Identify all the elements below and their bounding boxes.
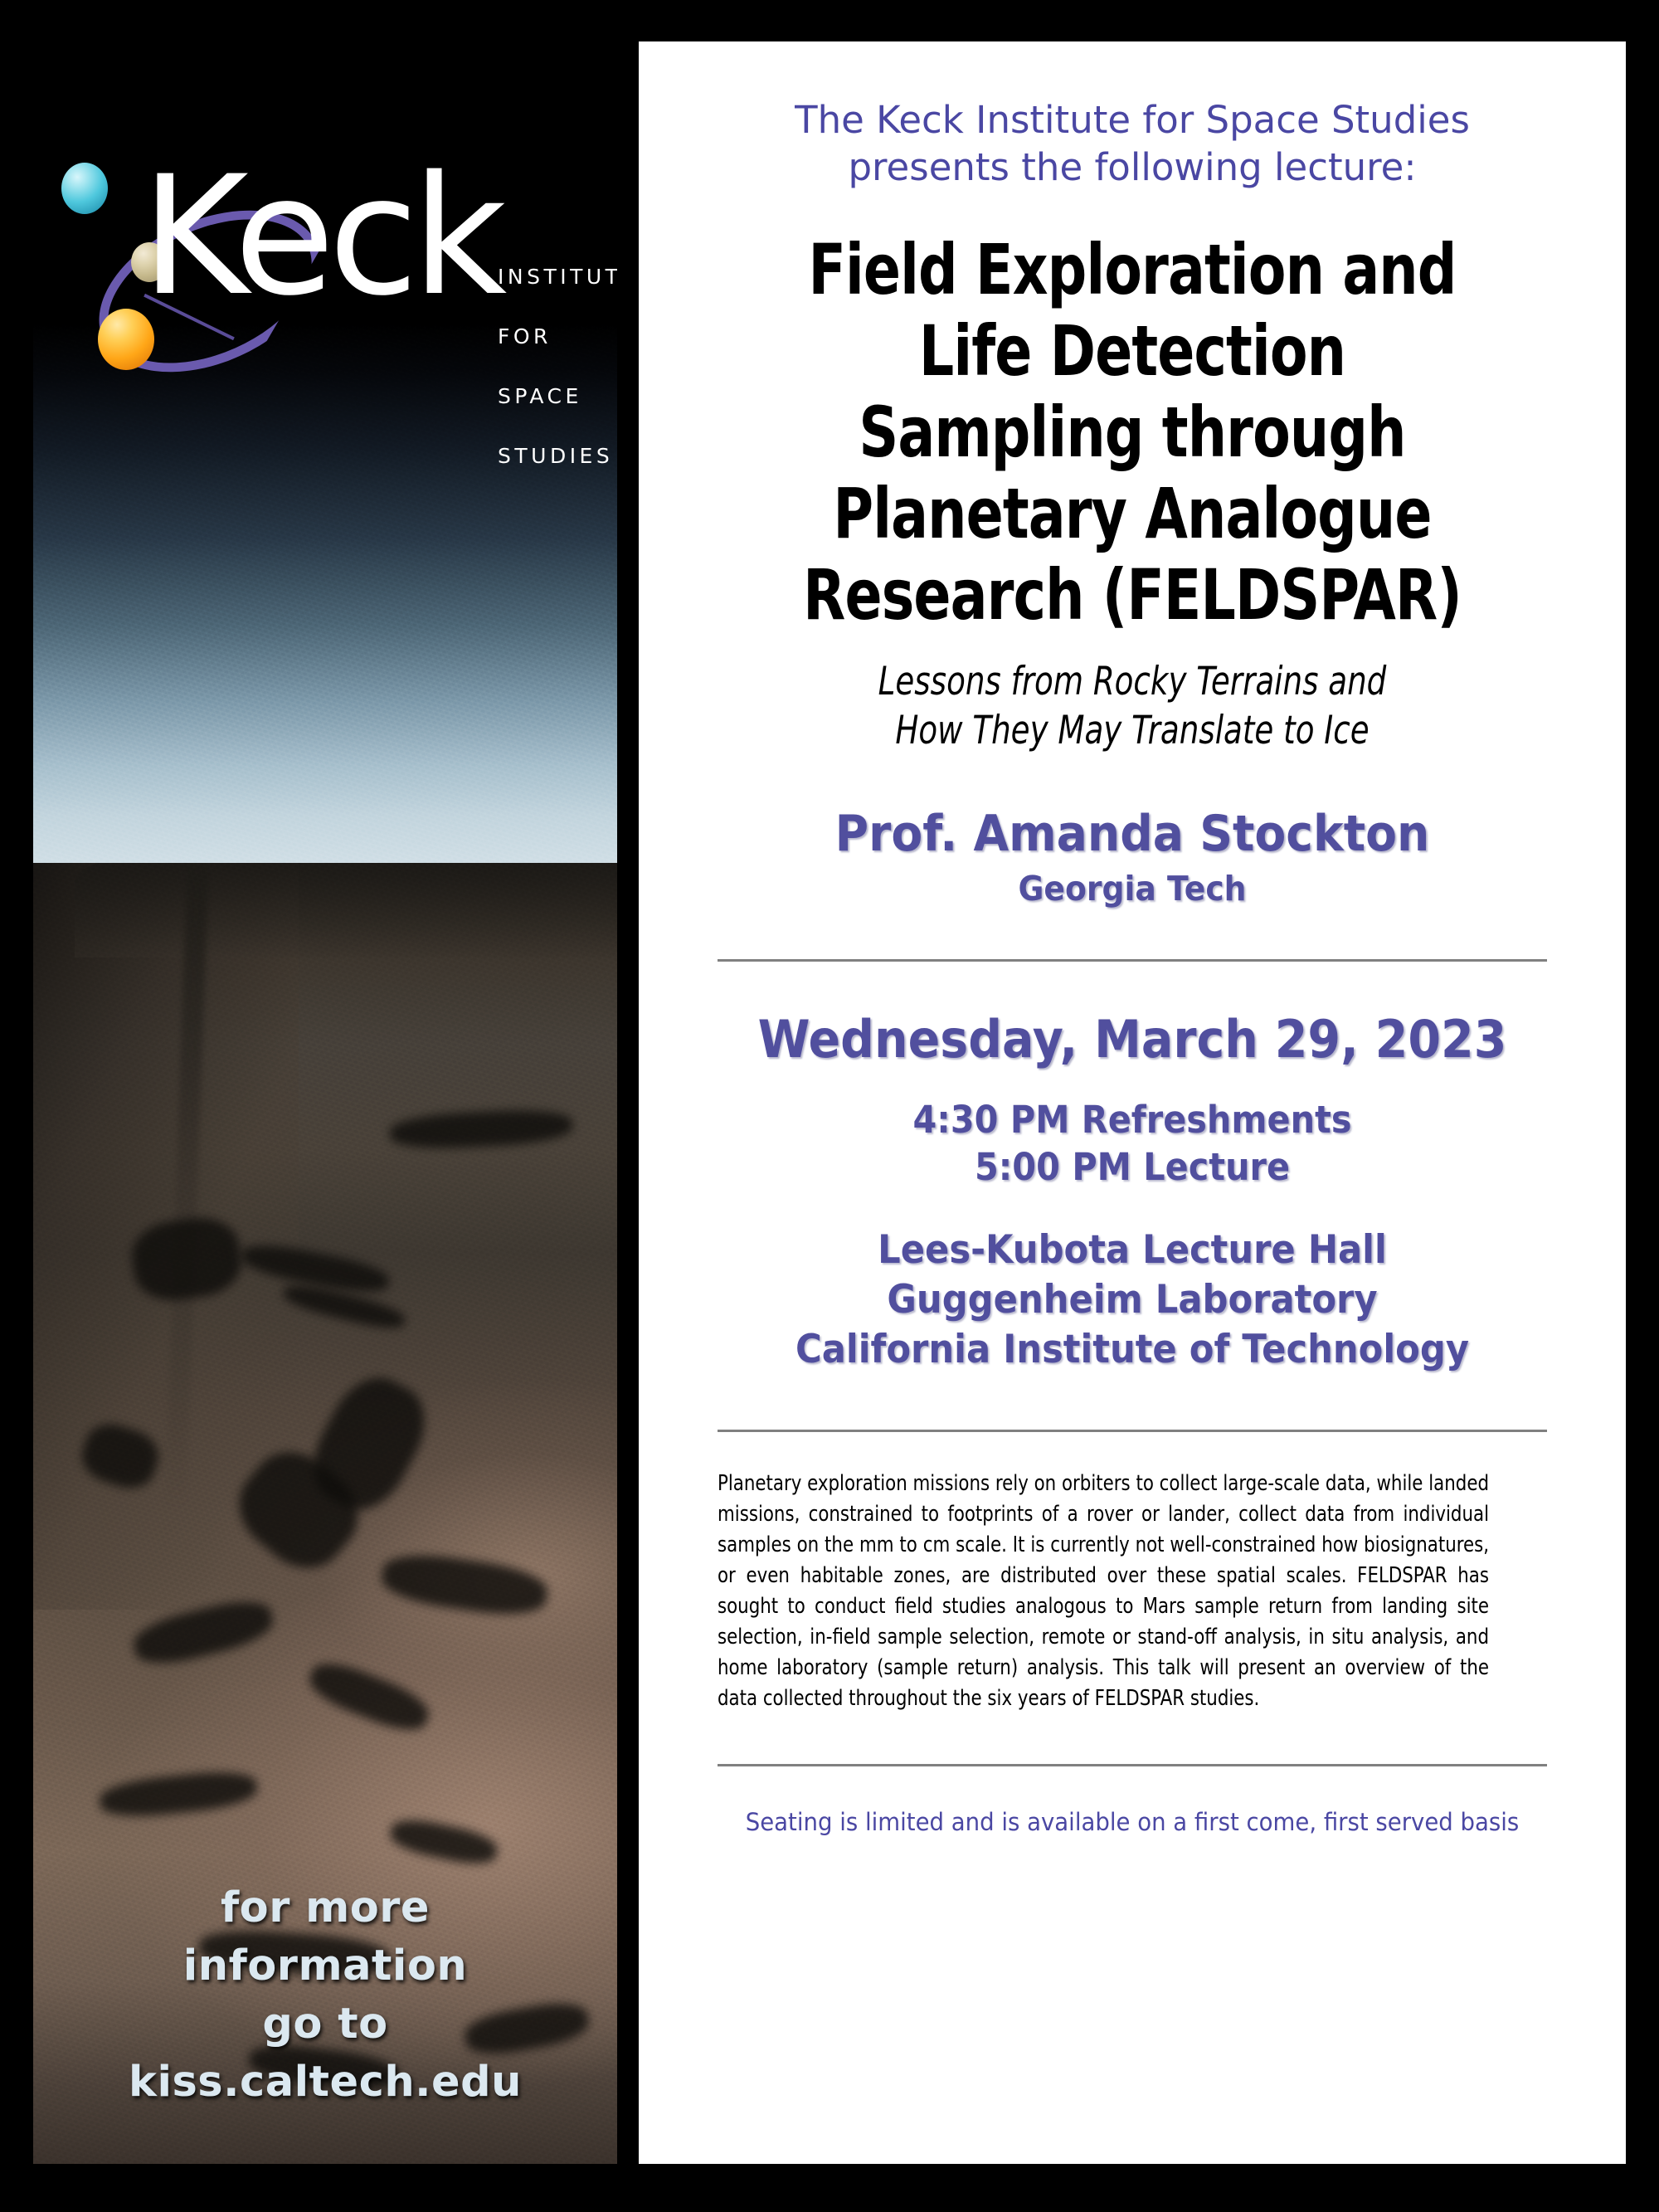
talk-title: Field Exploration and Life Detection Sam… xyxy=(764,229,1501,636)
presents-line-2: presents the following lecture: xyxy=(713,144,1551,191)
talk-subtitle: Lessons from Rocky Terrains and How They… xyxy=(764,657,1501,755)
speaker-affiliation: Georgia Tech xyxy=(747,868,1517,909)
logo-subtext: INSTITUTE FOR SPACE STUDIES xyxy=(498,247,617,486)
keck-wordmark: Keck xyxy=(141,154,500,319)
venue-line-hall: Lees-Kubota Lecture Hall xyxy=(747,1225,1517,1275)
logo-line-for: FOR xyxy=(498,307,617,367)
event-venue: Lees-Kubota Lecture Hall Guggenheim Labo… xyxy=(747,1225,1517,1375)
event-times: 4:30 PM Refreshments 5:00 PM Lecture xyxy=(747,1096,1517,1191)
more-info-line-1: for more xyxy=(33,1879,617,1937)
subtitle-line-1: Lessons from Rocky Terrains and xyxy=(764,657,1501,706)
venue-line-building: Guggenheim Laboratory xyxy=(747,1275,1517,1325)
title-line-2: Life Detection xyxy=(764,310,1501,392)
title-line-5: Research (FELDSPAR) xyxy=(764,554,1501,636)
venue-line-institution: California Institute of Technology xyxy=(747,1325,1517,1375)
logo-line-space: SPACE xyxy=(498,367,617,426)
divider-rule-1 xyxy=(718,959,1547,962)
cyan-planet-icon xyxy=(61,163,108,214)
logo-line-studies: STUDIES xyxy=(498,426,617,486)
logo-line-institute: INSTITUTE xyxy=(498,247,617,307)
event-date: Wednesday, March 29, 2023 xyxy=(747,1010,1517,1069)
abstract-text: Planetary exploration missions rely on o… xyxy=(718,1469,1489,1714)
lecture-poster: Keck INSTITUTE FOR SPACE STUDIES for mor… xyxy=(0,0,1659,2212)
more-info-line-3: go to xyxy=(33,1995,617,2054)
presents-line-1: The Keck Institute for Space Studies xyxy=(713,96,1551,144)
left-image-panel: Keck INSTITUTE FOR SPACE STUDIES for mor… xyxy=(33,0,617,2164)
title-line-4: Planetary Analogue xyxy=(764,473,1501,554)
title-line-1: Field Exploration and xyxy=(764,229,1501,310)
keck-logo: Keck INSTITUTE FOR SPACE STUDIES xyxy=(33,75,617,324)
more-info-line-2: information xyxy=(33,1937,617,1995)
seating-notice: Seating is limited and is available on a… xyxy=(734,1806,1530,1838)
presents-header: The Keck Institute for Space Studies pre… xyxy=(713,96,1551,191)
kiss-website-link[interactable]: kiss.caltech.edu xyxy=(33,2054,617,2112)
speaker-name: Prof. Amanda Stockton xyxy=(747,806,1517,861)
title-line-3: Sampling through xyxy=(764,392,1501,473)
event-time-refreshments: 4:30 PM Refreshments xyxy=(747,1096,1517,1143)
event-time-lecture: 5:00 PM Lecture xyxy=(747,1143,1517,1191)
subtitle-line-2: How They May Translate to Ice xyxy=(764,706,1501,755)
divider-rule-3 xyxy=(718,1764,1547,1766)
right-content-panel: The Keck Institute for Space Studies pre… xyxy=(639,41,1626,2164)
divider-rule-2 xyxy=(718,1430,1547,1432)
more-information-block: for more information go to kiss.caltech.… xyxy=(33,1879,617,2112)
